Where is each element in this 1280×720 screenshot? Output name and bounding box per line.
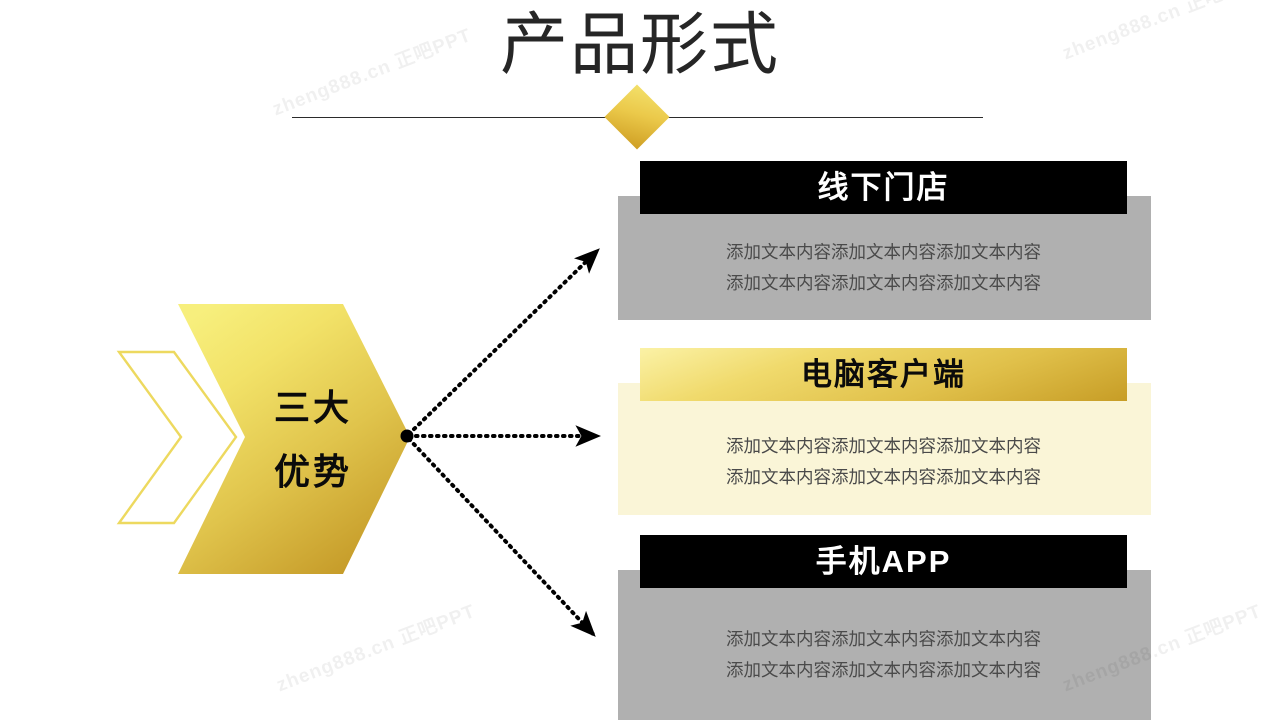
card-text-line-2: 添加文本内容添加文本内容添加文本内容	[640, 462, 1127, 493]
watermark: zheng888.cn 正吧PPT	[272, 596, 479, 697]
title-divider-right	[665, 117, 983, 118]
card-heading: 电脑客户端	[640, 348, 1127, 401]
arrow-label: 三大 优势	[248, 376, 378, 504]
slide-canvas: 产品形式 三大 优势	[0, 0, 1280, 720]
connector-arrow-to-mobile-app	[409, 439, 593, 634]
card-text-line-1: 添加文本内容添加文本内容添加文本内容	[640, 431, 1127, 462]
card-text-line-2: 添加文本内容添加文本内容添加文本内容	[640, 655, 1127, 686]
connector-arrow-to-offline-store	[409, 251, 597, 434]
title-divider-left	[292, 117, 608, 118]
card-heading: 线下门店	[640, 161, 1127, 214]
arrow-label-line-2: 优势	[248, 440, 378, 504]
card-text-line-1: 添加文本内容添加文本内容添加文本内容	[640, 624, 1127, 655]
card-heading: 手机APP	[640, 535, 1127, 588]
card-offline-store[interactable]: 线下门店 添加文本内容添加文本内容添加文本内容 添加文本内容添加文本内容添加文本…	[618, 161, 1151, 320]
card-text-line-1: 添加文本内容添加文本内容添加文本内容	[640, 237, 1127, 268]
arrow-label-line-1: 三大	[248, 376, 378, 440]
card-pc-client[interactable]: 电脑客户端 添加文本内容添加文本内容添加文本内容 添加文本内容添加文本内容添加文…	[618, 348, 1151, 515]
diamond-separator-icon	[604, 84, 669, 149]
card-text-line-2: 添加文本内容添加文本内容添加文本内容	[640, 268, 1127, 299]
